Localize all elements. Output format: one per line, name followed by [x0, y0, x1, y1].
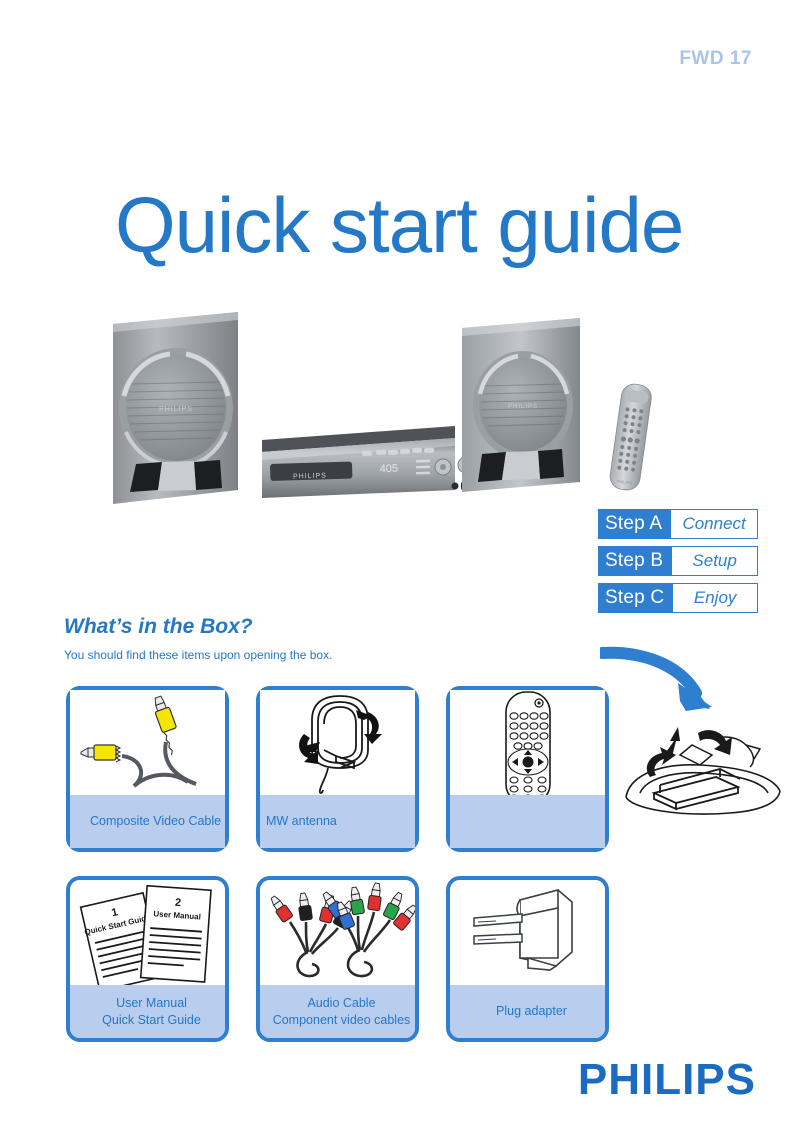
- battery-insert-illustration: [620, 715, 790, 825]
- product-photo: PHILIPS PHILIPS 405: [110, 312, 670, 517]
- card-band: [70, 795, 225, 848]
- step-a-action: Connect: [671, 509, 758, 539]
- item-card-composite-video-cable: Composite Video Cable: [66, 686, 229, 852]
- loop-antenna-icon: [260, 690, 415, 795]
- plug-black-1: [297, 892, 313, 920]
- item-card-cables: Audio Cable Component video cables: [256, 876, 419, 1042]
- card-band: [450, 985, 605, 1038]
- left-speaker: PHILIPS: [113, 312, 238, 504]
- step-b-action: Setup: [672, 546, 758, 576]
- right-speaker: PHILIPS: [462, 318, 580, 492]
- page-title: Quick start guide: [115, 186, 683, 264]
- item-card-remote-control: Remote Control: [446, 686, 609, 852]
- item-card-manuals: 1 Quick Start Guide 2 User Manual: [66, 876, 229, 1042]
- card-band: [260, 985, 415, 1038]
- model-code: FWD 17: [679, 48, 752, 70]
- svg-text:405: 405: [380, 463, 399, 476]
- card-band: [260, 795, 415, 848]
- philips-logo: PHILIPS: [578, 1055, 756, 1105]
- step-row-b[interactable]: Step B Setup: [598, 546, 758, 576]
- step-row-c[interactable]: Step C Enjoy: [598, 583, 758, 613]
- remote-control-icon: [450, 690, 605, 795]
- whats-in-box-heading: What’s in the Box?: [64, 615, 253, 639]
- yellow-rca-cable-icon: [70, 690, 225, 795]
- step-b-label: Step B: [598, 546, 672, 576]
- step-row-a[interactable]: Step A Connect: [598, 509, 758, 539]
- plug-adapter-icon: [450, 880, 605, 985]
- step-c-action: Enjoy: [673, 583, 758, 613]
- svg-text:PHILIPS: PHILIPS: [508, 404, 538, 410]
- step-a-label: Step A: [598, 509, 671, 539]
- documents-icon: 1 Quick Start Guide 2 User Manual: [70, 880, 225, 985]
- rca-plug-right: [151, 695, 185, 756]
- center-unit: PHILIPS 405: [262, 426, 474, 498]
- item-card-mw-antenna: MW antenna: [256, 686, 419, 852]
- step-list: Step A Connect Step B Setup Step C Enjoy: [598, 509, 758, 620]
- card-band: [70, 985, 225, 1038]
- item-card-plug-adapter: Plug adapter: [446, 876, 609, 1042]
- whats-in-box-subtitle: You should find these items upon opening…: [64, 648, 332, 662]
- plug-white-1: [268, 894, 293, 923]
- svg-text:PHILIPS: PHILIPS: [159, 406, 193, 413]
- rca-cables-icon: [260, 880, 415, 985]
- svg-text:2: 2: [175, 897, 182, 909]
- card-band: [450, 795, 605, 848]
- step-c-label: Step C: [598, 583, 673, 613]
- quick-start-guide-page: FWD 17 Quick start guide: [0, 0, 802, 1129]
- rca-plug-left: [81, 745, 120, 762]
- svg-text:PHILIPS: PHILIPS: [293, 472, 327, 480]
- remote-control-photo: PHILIPS: [608, 382, 652, 491]
